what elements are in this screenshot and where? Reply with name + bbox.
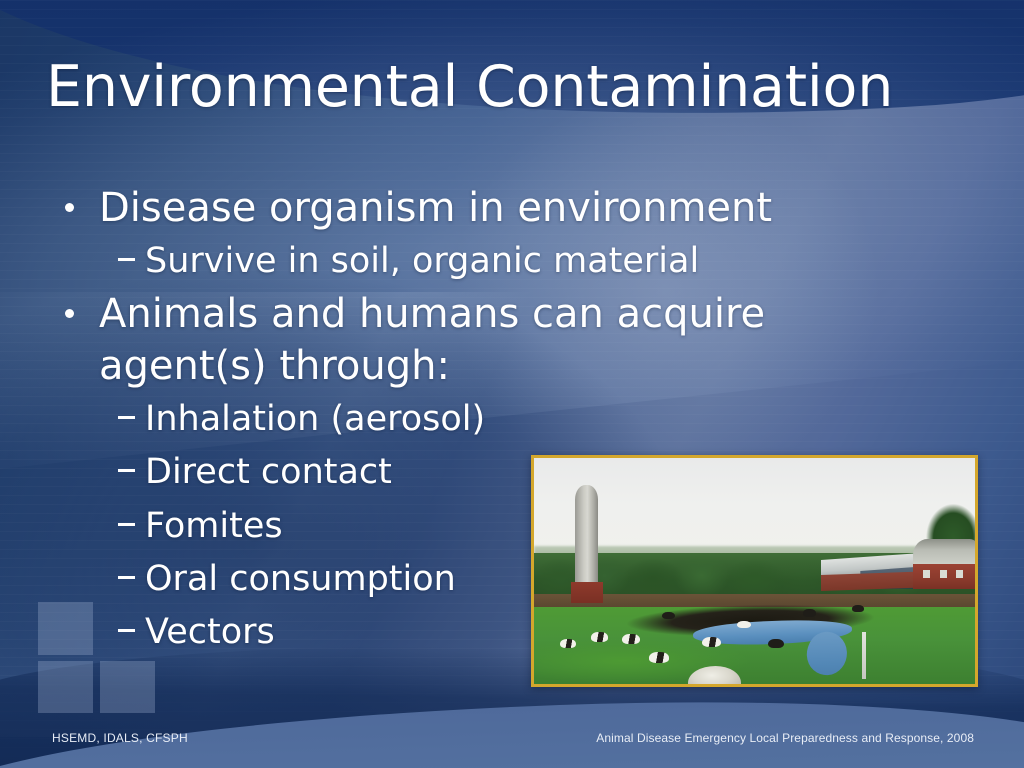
photo-cow xyxy=(622,634,640,644)
bullet-dash-icon xyxy=(118,629,135,632)
bullet-dash-icon xyxy=(118,258,135,261)
farm-photo xyxy=(531,455,978,687)
photo-sky xyxy=(534,458,975,557)
bullet-text: Direct contact xyxy=(145,452,392,492)
photo-cow xyxy=(803,609,816,616)
bullet-text: Disease organism in environment xyxy=(99,185,772,231)
photo-silo xyxy=(575,485,598,589)
photo-cow xyxy=(768,639,784,648)
bullet-dash-icon xyxy=(118,416,135,419)
bullet-item-2: Survive in soil, organic material xyxy=(60,235,880,288)
photo-barn-roof xyxy=(913,539,975,566)
footer-organizations: HSEMD, IDALS, CFSPH xyxy=(52,731,188,745)
photo-cow xyxy=(662,612,675,619)
bullet-text: Oral consumption xyxy=(145,559,456,599)
photo-cow xyxy=(649,652,669,662)
bullet-item-1: Disease organism in environment xyxy=(60,182,880,234)
photo-barn-window xyxy=(956,570,963,578)
bullet-dot-icon xyxy=(65,309,74,318)
photo-barn-window xyxy=(923,570,930,578)
bullet-text: Animals and humans can acquire agent(s) … xyxy=(99,291,765,389)
bullet-text: Vectors xyxy=(145,612,275,652)
bullet-text: Fomites xyxy=(145,506,283,546)
photo-cow xyxy=(560,639,576,648)
photo-silo-base xyxy=(571,582,603,602)
bullet-item-3: Animals and humans can acquire agent(s) … xyxy=(60,288,880,392)
bullet-text: Survive in soil, organic material xyxy=(145,241,699,281)
farm-photo-content xyxy=(534,458,975,684)
photo-cow xyxy=(702,637,721,647)
photo-barn-window xyxy=(940,570,947,578)
bullet-dash-icon xyxy=(118,576,135,579)
footer-source: Animal Disease Emergency Local Preparedn… xyxy=(596,731,974,745)
bullet-dash-icon xyxy=(118,469,135,472)
photo-cow xyxy=(591,632,608,641)
slide-title: Environmental Contamination xyxy=(46,58,986,118)
photo-cow xyxy=(737,621,751,628)
photo-fence-post xyxy=(862,632,866,679)
bullet-item-4: Inhalation (aerosol) xyxy=(60,393,880,446)
bullet-text: Inhalation (aerosol) xyxy=(145,399,485,439)
slide: Environmental Contamination Disease orga… xyxy=(0,0,1024,768)
bullet-dash-icon xyxy=(118,523,135,526)
photo-cow xyxy=(852,605,864,612)
bullet-dot-icon xyxy=(65,203,74,212)
